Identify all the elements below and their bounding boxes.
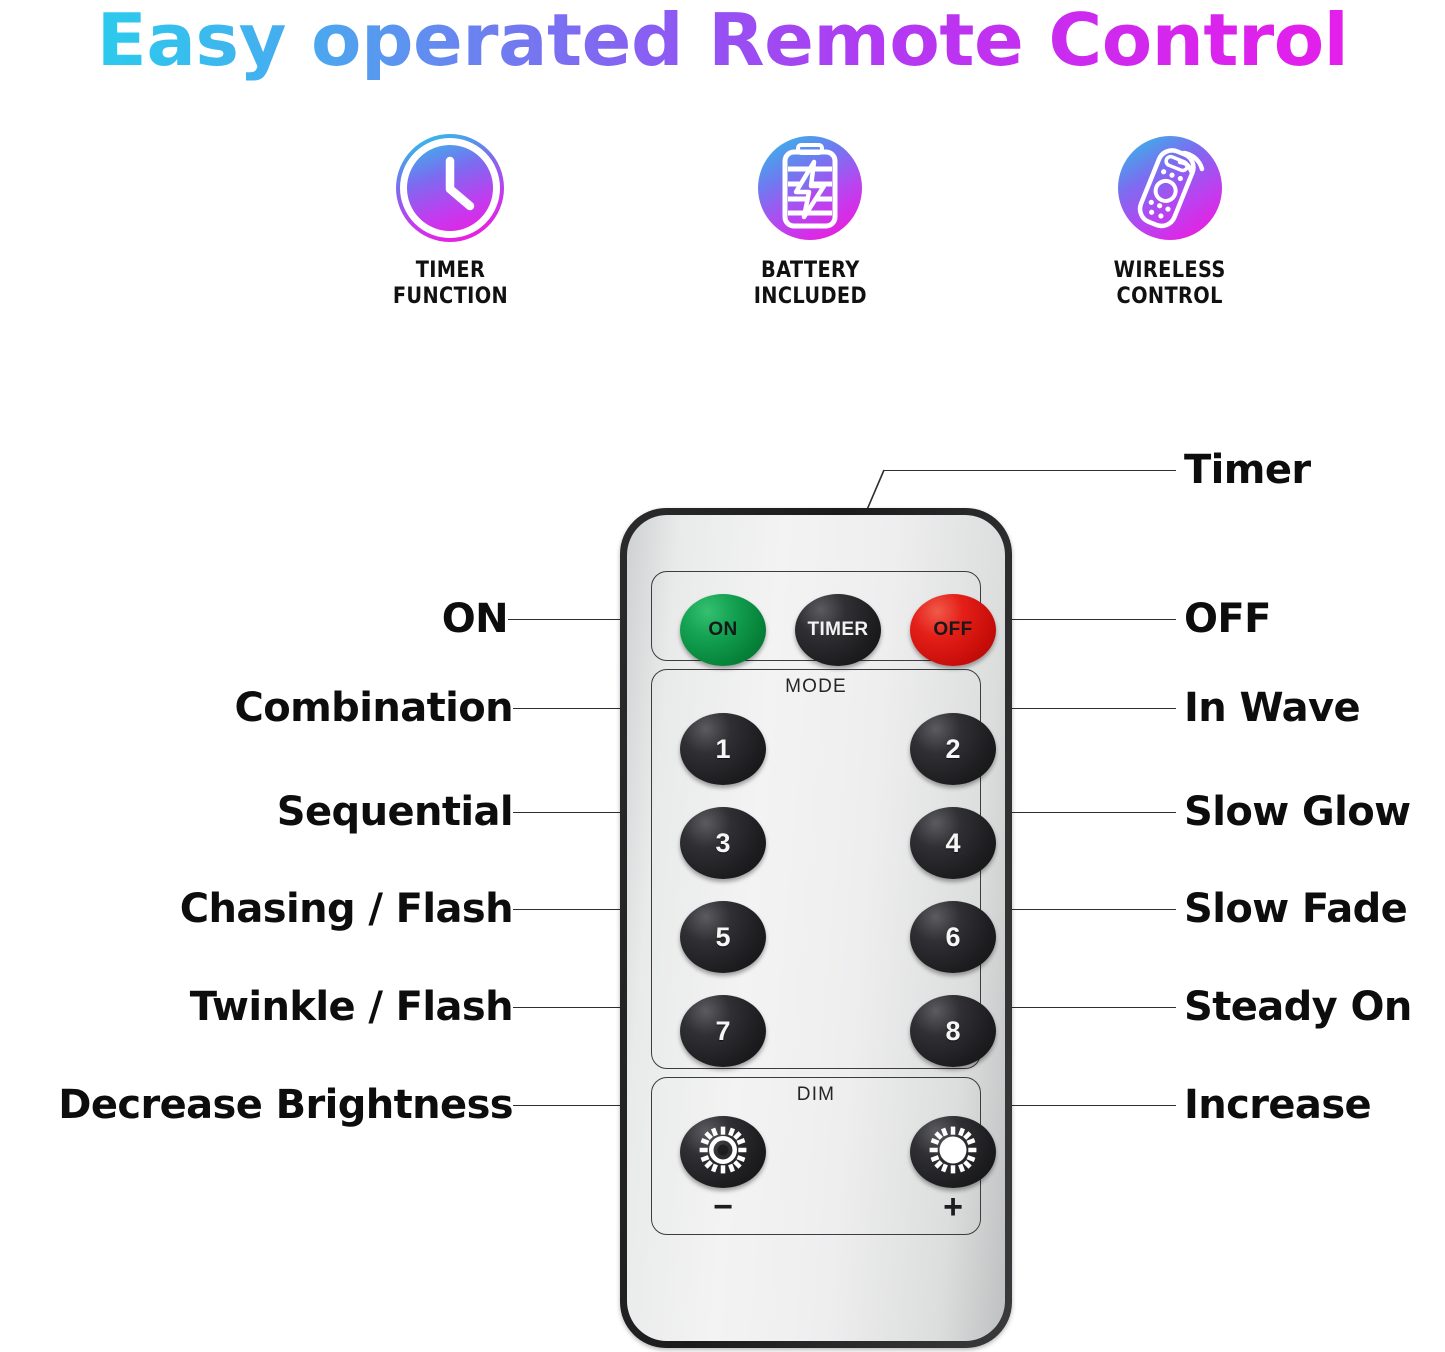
dim-minus-sign: − [680,1190,766,1224]
power-button-group: ON TIMER OFF [651,571,981,661]
off-button[interactable]: OFF [910,594,996,666]
callout-on: ON [100,597,508,641]
feature-timer-function: TIMER FUNCTION [300,132,600,310]
timer-button[interactable]: TIMER [795,594,881,666]
on-button-label: ON [708,619,737,641]
mode-8-label: 8 [945,1016,960,1047]
mode-2-button[interactable]: 2 [910,713,996,785]
dim-group-title: DIM [652,1084,980,1106]
off-button-label: OFF [933,619,972,641]
callout-decrease-brightness: Decrease Brightness [10,1083,513,1127]
mode-7-label: 7 [715,1016,730,1047]
callout-chasing-flash: Chasing / Flash [80,887,513,931]
remote-control-device: ON TIMER OFF MODE 1 2 3 4 5 6 [620,508,1012,1348]
remote-signal-icon [1114,132,1226,244]
callout-twinkle-flash: Twinkle / Flash [80,985,513,1029]
mode-4-button[interactable]: 4 [910,807,996,879]
callout-off: OFF [1184,597,1271,641]
feature-label-line2: CONTROL [1117,284,1223,309]
feature-label-line1: BATTERY [761,258,860,283]
feature-wireless-control: WIRELESS CONTROL [1020,132,1320,310]
on-button[interactable]: ON [680,594,766,666]
callout-slow-glow: Slow Glow [1184,790,1410,834]
page-title: Easy operated Remote Control [0,0,1445,82]
dim-plus-sign: + [910,1190,996,1224]
callout-increase: Increase [1184,1083,1371,1127]
callout-timer: Timer [1184,448,1311,492]
dim-button-group: DIM [651,1077,981,1235]
feature-battery-included: BATTERY INCLUDED [660,132,960,310]
callout-sequential: Sequential [100,790,513,834]
feature-badges-row: TIMER FUNCTION [300,132,1320,310]
callout-combination: Combination [100,686,513,730]
mode-1-label: 1 [715,734,730,765]
mode-3-button[interactable]: 3 [680,807,766,879]
mode-5-button[interactable]: 5 [680,901,766,973]
feature-label-line1: WIRELESS [1114,258,1226,283]
dim-down-button[interactable] [680,1116,766,1188]
mode-6-button[interactable]: 6 [910,901,996,973]
mode-button-group: MODE 1 2 3 4 5 6 7 8 [651,669,981,1069]
feature-label: BATTERY INCLUDED [753,258,866,310]
mode-group-title: MODE [652,676,980,698]
feature-label: WIRELESS CONTROL [1114,258,1226,310]
mode-1-button[interactable]: 1 [680,713,766,785]
leader-timer-horizontal [884,470,1176,471]
battery-icon [754,132,866,244]
clock-icon [394,132,506,244]
mode-4-label: 4 [945,828,960,859]
feature-label-line2: FUNCTION [392,284,507,309]
mode-7-button[interactable]: 7 [680,995,766,1067]
remote-faceplate: ON TIMER OFF MODE 1 2 3 4 5 6 [627,515,1005,1341]
feature-label-line1: TIMER [415,258,485,283]
brightness-low-icon [696,1123,750,1182]
feature-label-line2: INCLUDED [753,284,866,309]
brightness-high-icon [926,1123,980,1182]
mode-6-label: 6 [945,922,960,953]
feature-label: TIMER FUNCTION [392,258,507,310]
dim-up-button[interactable] [910,1116,996,1188]
callout-in-wave: In Wave [1184,686,1360,730]
mode-2-label: 2 [945,734,960,765]
mode-3-label: 3 [715,828,730,859]
timer-button-label: TIMER [807,619,868,641]
mode-8-button[interactable]: 8 [910,995,996,1067]
callout-steady-on: Steady On [1184,985,1412,1029]
mode-5-label: 5 [715,922,730,953]
callout-slow-fade: Slow Fade [1184,887,1407,931]
